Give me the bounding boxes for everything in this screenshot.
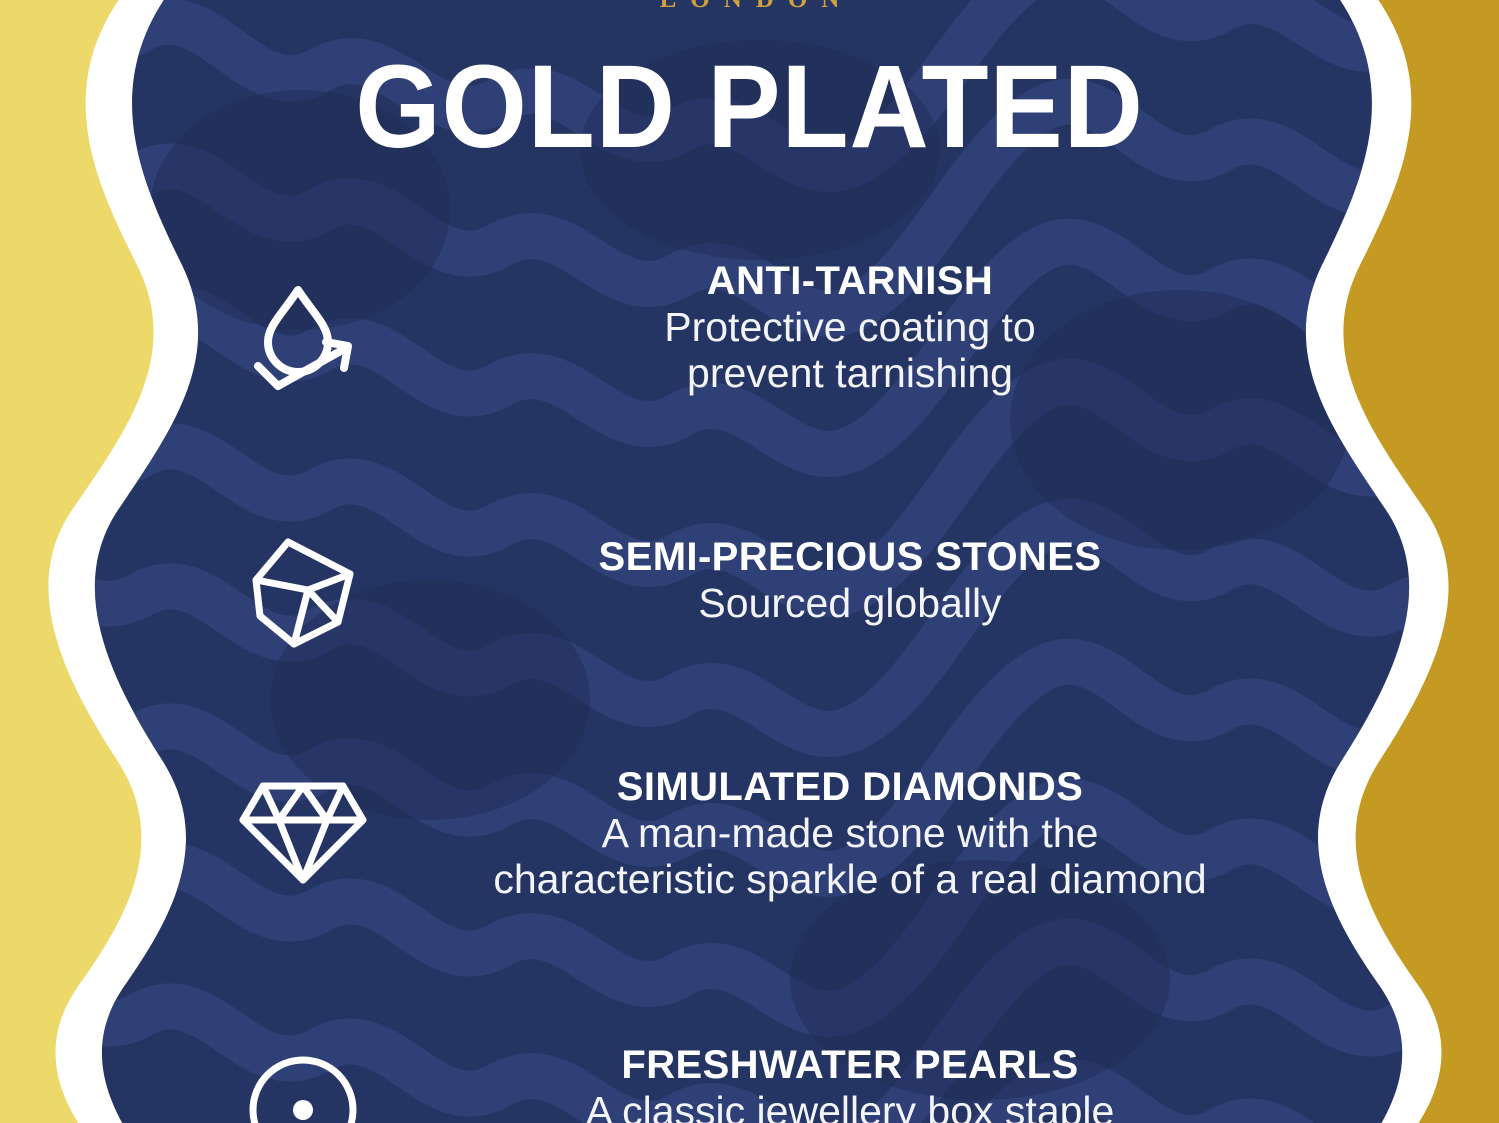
feature-description-line: A man-made stone with the xyxy=(270,811,1430,857)
brand-sub-label: LONDON xyxy=(0,0,1499,14)
feature-description-line: Protective coating to xyxy=(360,305,1340,351)
feature-description-line: characteristic sparkle of a real diamond xyxy=(270,857,1430,903)
feature-description-line: prevent tarnishing xyxy=(360,351,1340,397)
feature-description: A classic jewellery box staple xyxy=(360,1089,1340,1123)
feature-title: FRESHWATER PEARLS xyxy=(360,1044,1340,1087)
feature-description-line: A classic jewellery box staple xyxy=(360,1089,1340,1123)
feature-text-anti-tarnish: ANTI-TARNISH Protective coating to preve… xyxy=(180,260,1340,397)
feature-text-simulated-diamonds: SIMULATED DIAMONDS A man-made stone with… xyxy=(180,766,1340,903)
feature-description: Protective coating to prevent tarnishing xyxy=(360,305,1340,397)
feature-title: ANTI-TARNISH xyxy=(360,260,1340,303)
page-title: GOLD PLATED xyxy=(52,48,1446,166)
feature-title: SEMI-PRECIOUS STONES xyxy=(360,536,1340,579)
feature-title: SIMULATED DIAMONDS xyxy=(360,766,1340,809)
feature-text-semi-precious-stones: SEMI-PRECIOUS STONES Sourced globally xyxy=(180,536,1340,627)
gold-plated-infographic-card: LONDON GOLD PLATED ANTI-TARNISH Protecti… xyxy=(0,0,1499,1123)
feature-text-freshwater-pearls: FRESHWATER PEARLS A classic jewellery bo… xyxy=(180,1044,1340,1123)
feature-description-line: Sourced globally xyxy=(360,581,1340,627)
feature-description: Sourced globally xyxy=(360,581,1340,627)
feature-description: A man-made stone with the characteristic… xyxy=(270,811,1430,903)
